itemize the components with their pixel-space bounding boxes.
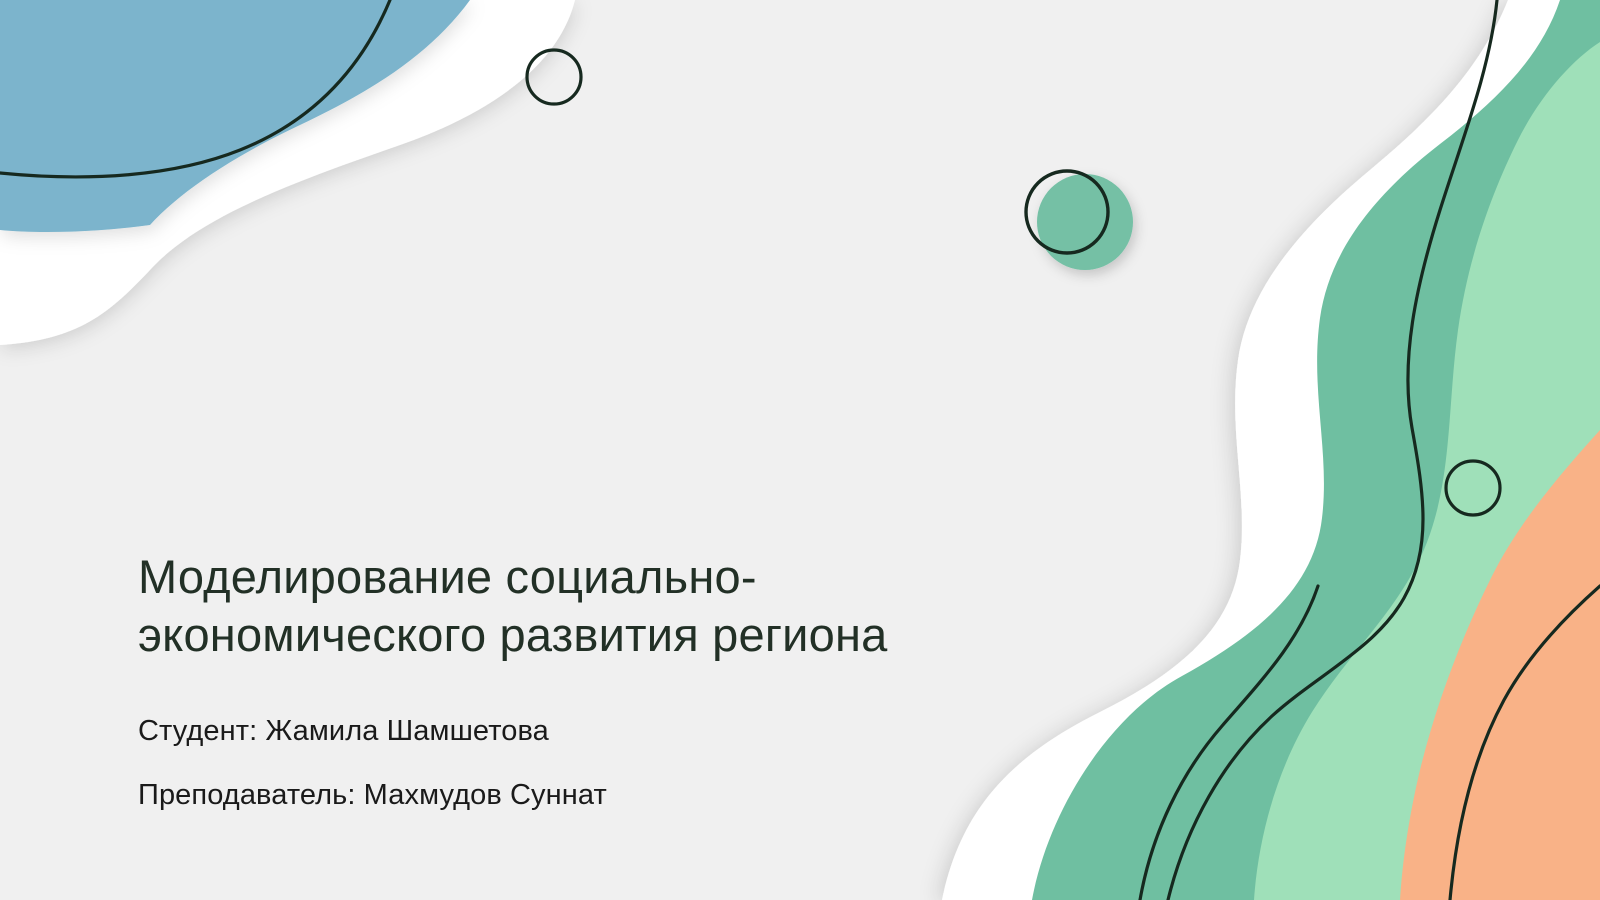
presentation-slide: Моделирование социально- экономического …: [0, 0, 1600, 900]
white-wave-right: [942, 0, 1600, 900]
page-title: Моделирование социально- экономического …: [138, 548, 978, 664]
student-line: Студент: Жамила Шамшетова: [138, 714, 898, 748]
outline-circle-top: [527, 50, 581, 104]
orange-wave-right: [1400, 430, 1600, 900]
credits-block: Студент: Жамила Шамшетова Преподаватель:…: [138, 714, 898, 812]
contour-line-orange: [1450, 586, 1600, 900]
outline-circle-green: [1026, 171, 1108, 253]
green-wave-light-right: [1254, 42, 1600, 900]
white-wave-top-left: [0, 0, 575, 345]
contour-line-right-upper: [1168, 0, 1497, 900]
green-circle-filled: [1037, 174, 1133, 270]
contour-line-right-lower: [1140, 586, 1318, 900]
teacher-line: Преподаватель: Махмудов Суннат: [138, 778, 898, 812]
outline-circle-right: [1446, 461, 1500, 515]
blue-blob-top-left: [0, 0, 470, 232]
contour-line-top-left: [0, 0, 390, 177]
green-wave-mid-right: [1032, 0, 1600, 900]
title-block: Моделирование социально- экономического …: [138, 548, 978, 664]
